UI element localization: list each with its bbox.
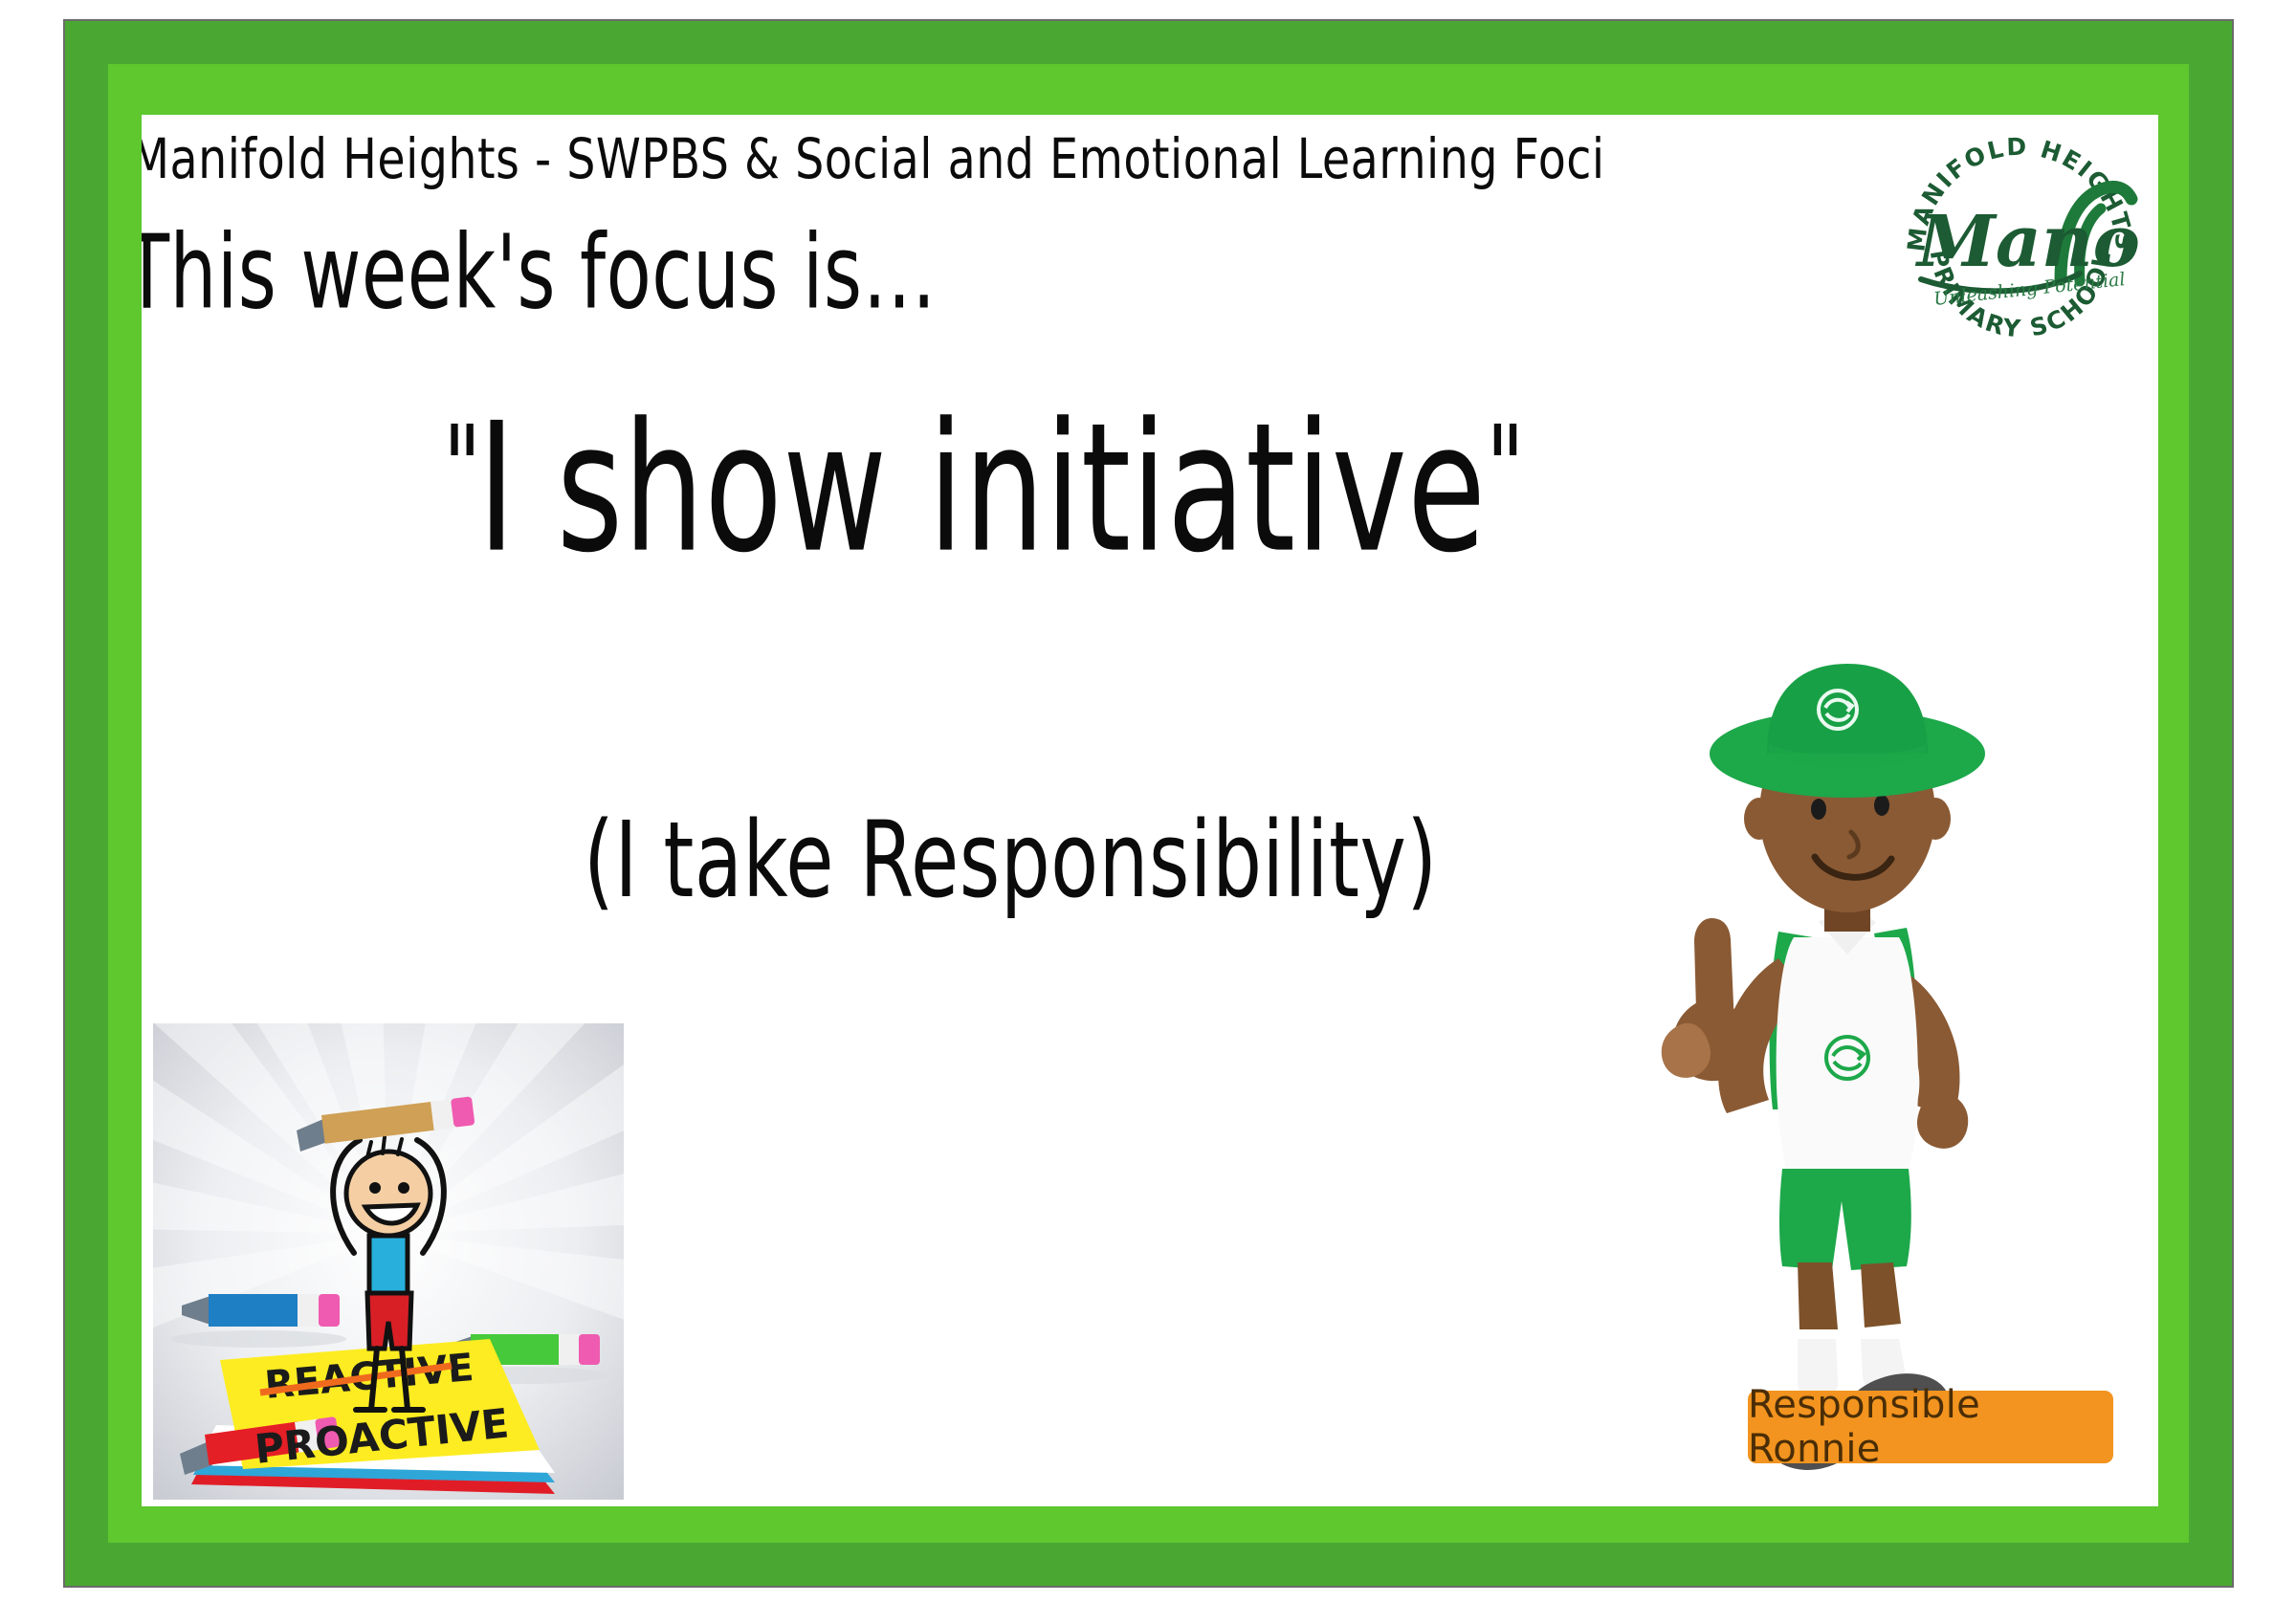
mascot-responsible-ronnie: [1591, 526, 2088, 1492]
quote-open: ": [443, 401, 477, 537]
page-title: Manifold Heights - SWPBS & Social and Em…: [142, 127, 1605, 191]
quote-close: ": [1486, 401, 1520, 537]
focus-subtitle: (I take Responsibility): [584, 800, 1438, 922]
focus-headline-text: I show initiative: [477, 385, 1486, 593]
focus-headline: "I show initiative": [443, 385, 1521, 593]
mascot-name-badge: Responsible Ronnie: [1748, 1391, 2113, 1463]
poster-content-area: Manifold Heights - SWPBS & Social and Em…: [142, 115, 2158, 1506]
proactive-clipart: REACTIVE PROACTIVE: [153, 1023, 624, 1500]
focus-intro-text: This week's focus is…: [142, 214, 937, 333]
poster-canvas: Manifold Heights - SWPBS & Social and Em…: [0, 0, 2296, 1624]
school-logo: MANIFOLD HEIGHTS PRIMARY SCHOOL Mano Unl…: [1892, 115, 2149, 367]
